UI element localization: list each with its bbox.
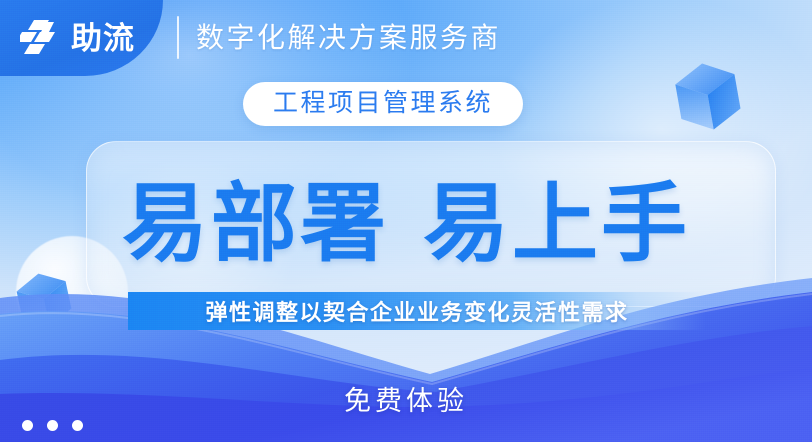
cube-3d-icon xyxy=(672,57,744,137)
product-badge-label: 工程项目管理系统 xyxy=(273,89,493,117)
brand-logo-panel[interactable]: 助流 xyxy=(0,0,163,76)
brand-name: 助流 xyxy=(71,23,135,54)
header-divider xyxy=(177,16,179,59)
headline-part-1: 易部署 xyxy=(122,176,389,272)
carousel-dot-2[interactable] xyxy=(47,420,58,431)
flow-lightning-logo-icon xyxy=(20,18,62,58)
carousel-indicators[interactable] xyxy=(22,420,83,431)
promo-banner: 助流 数字化解决方案服务商 工程项目管理系统 易部署易上手 弹性调整以契合企业业… xyxy=(0,0,812,442)
brand-tagline: 数字化解决方案服务商 xyxy=(196,20,501,56)
carousel-dot-3[interactable] xyxy=(72,420,83,431)
product-badge: 工程项目管理系统 xyxy=(243,82,523,126)
free-trial-cta[interactable]: 免费体验 xyxy=(0,384,812,418)
page-title: 易部署易上手 xyxy=(0,146,812,302)
subtitle-label: 弹性调整以契合企业业务变化灵活性需求 xyxy=(128,292,706,330)
carousel-dot-1[interactable] xyxy=(22,420,33,431)
headline-part-2: 易上手 xyxy=(423,176,690,272)
